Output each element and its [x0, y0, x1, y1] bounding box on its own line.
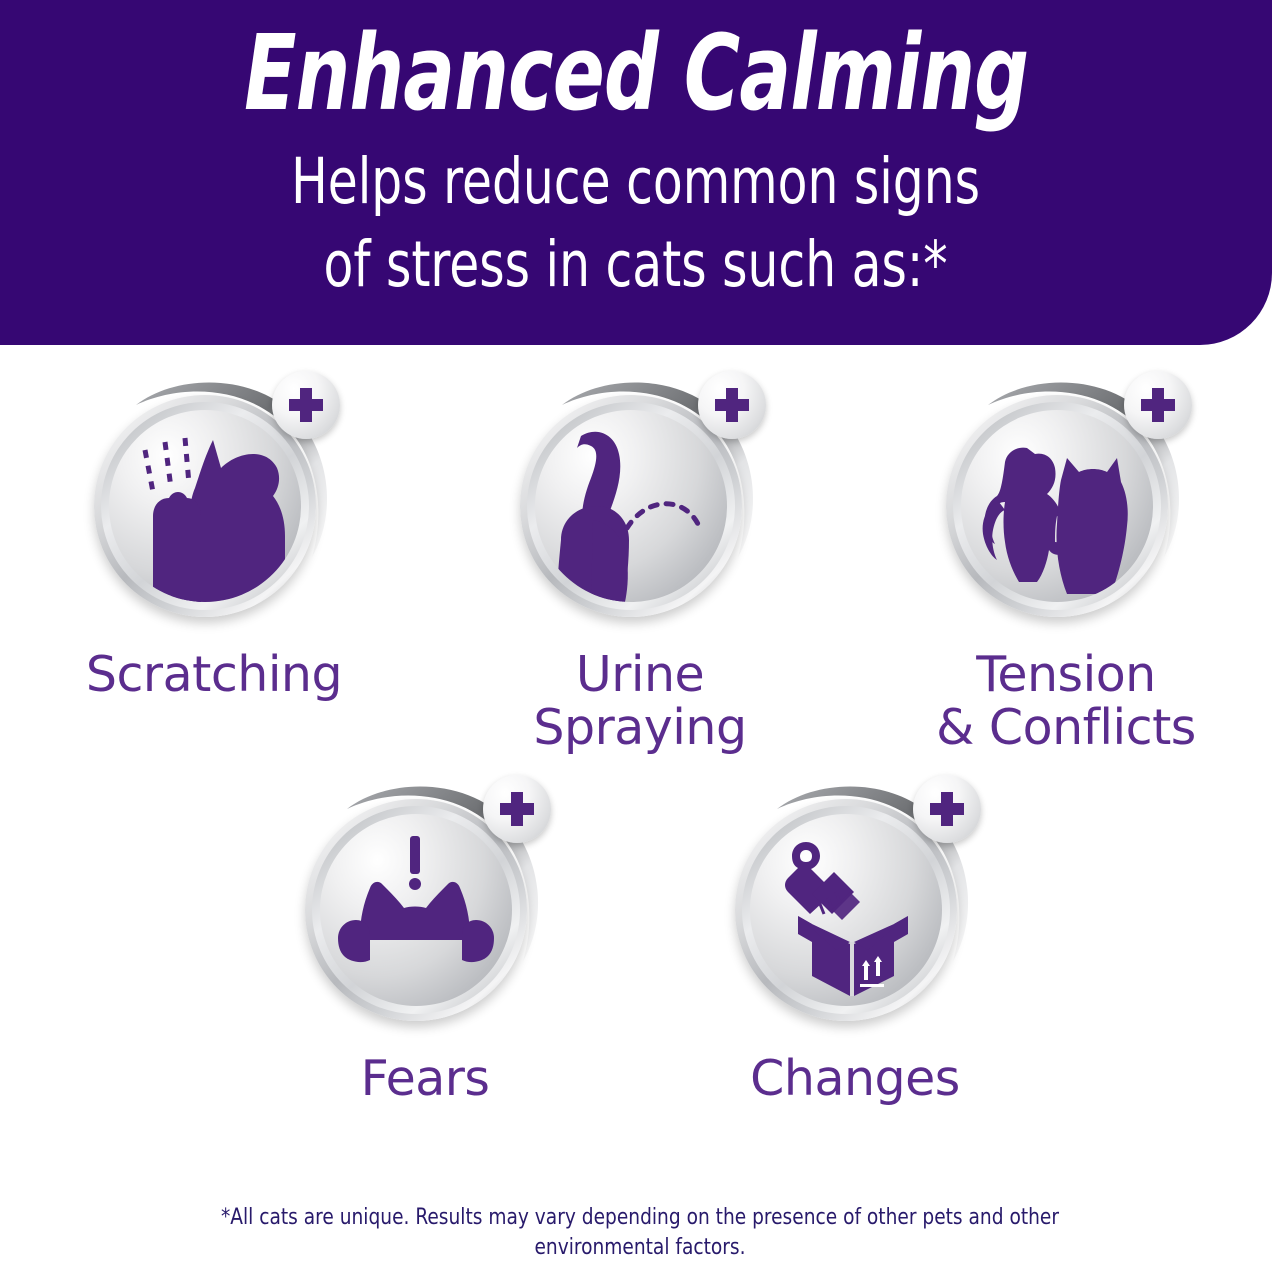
badge-face — [961, 410, 1153, 602]
badge-face — [109, 410, 301, 602]
benefit-label-tension-conflicts: Tension & Conflicts — [936, 649, 1196, 755]
plus-glyph — [715, 388, 749, 422]
footnote-disclaimer: *All cats are unique. Results may vary d… — [38, 1203, 1241, 1262]
badge-face — [535, 410, 727, 602]
page-subtitle: Helps reduce common signs of stress in c… — [292, 140, 981, 306]
label-line-1: Urine — [533, 649, 746, 702]
benefit-item-urine-spraying[interactable]: Urine Spraying — [427, 367, 853, 755]
benefit-label-changes: Changes — [750, 1053, 960, 1106]
benefit-label-scratching: Scratching — [86, 649, 342, 702]
benefits-row-1: Scratching — [0, 345, 1280, 755]
benefit-label-fears: Fears — [361, 1053, 490, 1106]
plus-badge-icon — [483, 775, 551, 843]
plus-badge-icon — [913, 775, 981, 843]
label-line-2: Spraying — [533, 702, 746, 755]
benefit-item-tension-conflicts[interactable]: Tension & Conflicts — [853, 367, 1279, 755]
plus-glyph — [289, 388, 323, 422]
badge-fears[interactable] — [295, 771, 555, 1041]
label-line-1: Scratching — [86, 649, 342, 702]
benefit-item-changes[interactable]: Changes — [640, 771, 1070, 1106]
page-subtitle-line-1: Helps reduce common signs — [292, 140, 981, 223]
footnote-line-2: environmental factors. — [38, 1233, 1241, 1262]
header-banner: Enhanced Calming Helps reduce common sig… — [0, 0, 1272, 345]
benefits-grid: Scratching — [0, 345, 1280, 1106]
cat-urine-spraying-icon — [535, 410, 727, 602]
plus-glyph — [500, 792, 534, 826]
label-line-1: Changes — [750, 1053, 960, 1106]
badge-face — [320, 814, 512, 1006]
plus-badge-icon — [698, 371, 766, 439]
badge-scratching[interactable] — [84, 367, 344, 637]
badge-tension-conflicts[interactable] — [936, 367, 1196, 637]
benefits-row-2: Fears — [0, 755, 1280, 1106]
plus-glyph — [1141, 388, 1175, 422]
cat-scratching-icon — [109, 410, 301, 602]
badge-changes[interactable] — [725, 771, 985, 1041]
plus-badge-icon — [1124, 371, 1192, 439]
cats-tension-conflict-icon — [961, 410, 1153, 602]
page-title: Enhanced Calming — [244, 18, 1028, 128]
label-line-1: Tension — [936, 649, 1196, 702]
footnote-line-1: *All cats are unique. Results may vary d… — [38, 1203, 1241, 1232]
plus-badge-icon — [272, 371, 340, 439]
paintbrush-moving-box-icon — [750, 814, 942, 1006]
benefit-item-fears[interactable]: Fears — [210, 771, 640, 1106]
label-line-1: Fears — [361, 1053, 490, 1106]
badge-face — [750, 814, 942, 1006]
cat-fear-hiding-icon — [320, 814, 512, 1006]
page-subtitle-line-2: of stress in cats such as:* — [292, 223, 981, 306]
plus-glyph — [930, 792, 964, 826]
label-line-2: & Conflicts — [936, 702, 1196, 755]
badge-urine-spraying[interactable] — [510, 367, 770, 637]
benefit-item-scratching[interactable]: Scratching — [1, 367, 427, 702]
benefit-label-urine-spraying: Urine Spraying — [533, 649, 746, 755]
